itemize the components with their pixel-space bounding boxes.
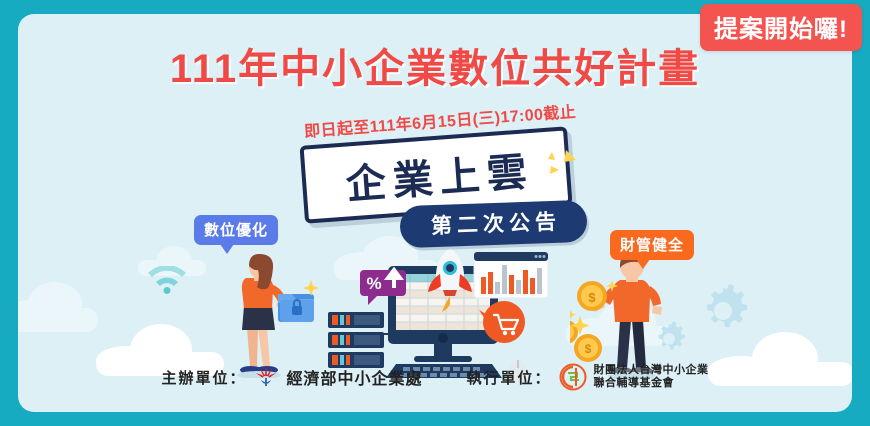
bubble-digital-optimization: 數位優化 bbox=[194, 215, 278, 245]
gear-icon-large bbox=[694, 282, 752, 340]
start-proposal-badge[interactable]: 提案開始囉! bbox=[700, 4, 862, 51]
organizer-label: 主辦單位： bbox=[161, 367, 246, 388]
footer: 主辦單位： 經濟部中小企業處 bbox=[18, 356, 852, 398]
bubble-financial-management: 財管健全 bbox=[610, 230, 694, 260]
notice-badge: 第二次公告 bbox=[399, 200, 587, 249]
moea-sme-fan-logo-icon bbox=[253, 364, 279, 390]
svg-text:$: $ bbox=[585, 342, 592, 356]
banner-inner-panel: % bbox=[18, 14, 852, 412]
executor-name-line2: 聯合輔導基金會 bbox=[594, 377, 709, 390]
bar-chart-window bbox=[474, 252, 548, 298]
bubble-financial-management-label: 財管健全 bbox=[620, 237, 684, 254]
sme-foundation-circle-logo-icon bbox=[559, 363, 587, 391]
svg-text:%: % bbox=[366, 274, 381, 293]
svg-text:$: $ bbox=[588, 290, 596, 305]
bubble-digital-optimization-label: 數位優化 bbox=[204, 222, 268, 239]
executor-name-line1: 財團法人台灣中小企業 bbox=[594, 364, 709, 377]
sparkle-decoration bbox=[546, 148, 580, 178]
executor-name: 財團法人台灣中小企業 聯合輔導基金會 bbox=[594, 364, 709, 390]
executor-block: 執行單位： 財團法人台灣中小企業 聯合輔導基金會 bbox=[467, 363, 709, 391]
executor-label: 執行單位： bbox=[467, 367, 552, 388]
coin-large: $ bbox=[577, 281, 607, 311]
campaign-banner: % bbox=[0, 0, 870, 426]
organizer-name: 經濟部中小企業處 bbox=[286, 365, 422, 389]
wifi-icon bbox=[146, 266, 188, 296]
organizer-block: 主辦單位： 經濟部中小企業處 bbox=[161, 364, 422, 390]
